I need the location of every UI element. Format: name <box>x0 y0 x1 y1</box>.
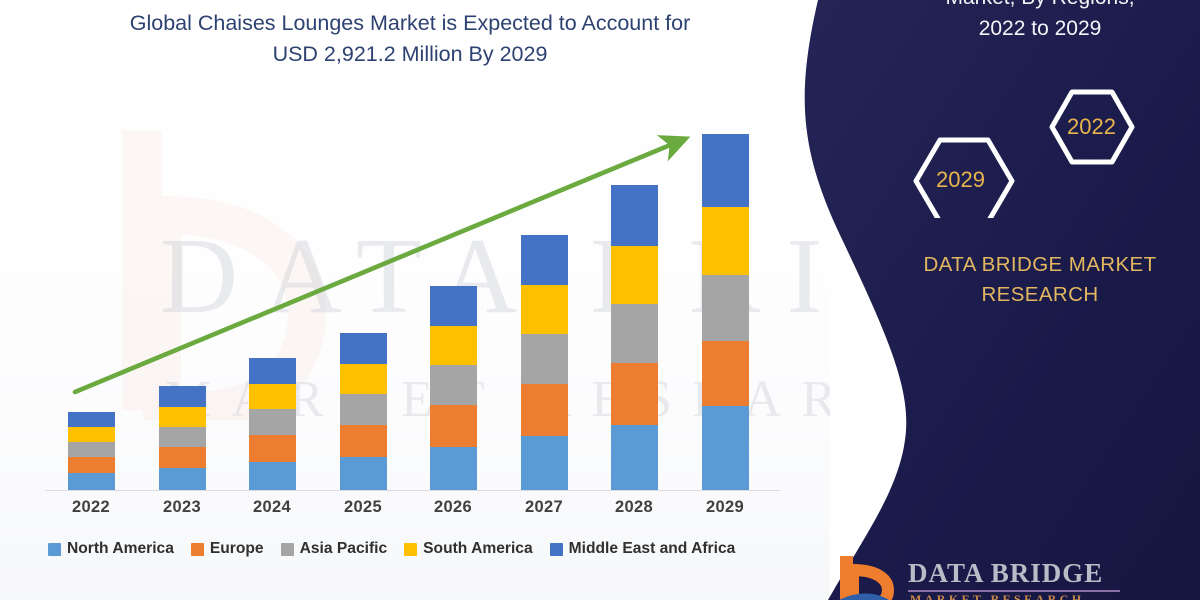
bar-segment-north-america <box>159 468 206 490</box>
panel-title-line-1: Market, By Regions, <box>945 0 1134 9</box>
legend-item-north-america[interactable]: North America <box>48 540 174 558</box>
bar-segment-asia-pacific <box>611 304 658 363</box>
legend-swatch-icon <box>191 543 204 556</box>
bar-segment-middle-east-and-africa <box>340 333 387 364</box>
bar-segment-middle-east-and-africa <box>430 286 477 326</box>
bar-segment-middle-east-and-africa <box>702 134 749 207</box>
bar-segment-north-america <box>68 473 115 490</box>
logo-tagline: MARKET RESEARCH <box>910 592 1084 600</box>
chart-legend: North AmericaEuropeAsia PacificSouth Ame… <box>48 540 788 558</box>
bar-segment-south-america <box>430 326 477 365</box>
bar-segment-europe <box>68 457 115 473</box>
axis-baseline <box>45 490 780 491</box>
x-axis-label-2022: 2022 <box>51 498 131 517</box>
bar-segment-middle-east-and-africa <box>611 185 658 246</box>
hexagon-2029-label: 2029 <box>936 167 985 193</box>
bar-segment-south-america <box>68 427 115 442</box>
stacked-bar-plot: 20222023202420252026202720282029 <box>0 0 830 600</box>
bar-2027 <box>521 235 568 490</box>
bar-2029 <box>702 134 749 490</box>
legend-swatch-icon <box>550 543 563 556</box>
legend-label: South America <box>423 540 532 558</box>
bar-2023 <box>159 386 206 490</box>
bar-segment-middle-east-and-africa <box>68 412 115 427</box>
bar-segment-north-america <box>249 462 296 490</box>
legend-label: Asia Pacific <box>300 540 388 558</box>
legend-swatch-icon <box>404 543 417 556</box>
logo-b-mark-icon <box>836 556 896 600</box>
bar-2026 <box>430 286 477 490</box>
bar-segment-europe <box>611 363 658 425</box>
bar-segment-europe <box>340 425 387 457</box>
bar-segment-asia-pacific <box>340 394 387 425</box>
bar-2028 <box>611 185 658 490</box>
x-axis-label-2027: 2027 <box>504 498 584 517</box>
legend-item-europe[interactable]: Europe <box>191 540 264 558</box>
bar-segment-middle-east-and-africa <box>159 386 206 407</box>
legend-label: Middle East and Africa <box>569 540 736 558</box>
hexagon-outlines <box>900 88 1180 218</box>
legend-item-middle-east-and-africa[interactable]: Middle East and Africa <box>550 540 736 558</box>
bar-segment-europe <box>702 341 749 406</box>
legend-label: Europe <box>210 540 264 558</box>
bar-segment-asia-pacific <box>249 409 296 435</box>
brand-name: DATA BRIDGE MARKET RESEARCH <box>880 250 1200 310</box>
x-axis-label-2023: 2023 <box>142 498 222 517</box>
company-logo: DATA BRIDGE MARKET RESEARCH <box>836 552 1136 600</box>
x-axis-label-2025: 2025 <box>323 498 403 517</box>
legend-swatch-icon <box>281 543 294 556</box>
bar-segment-europe <box>430 405 477 447</box>
bar-segment-europe <box>249 435 296 462</box>
legend-item-south-america[interactable]: South America <box>404 540 532 558</box>
bar-segment-north-america <box>702 406 749 490</box>
panel-content: Market, By Regions, 2022 to 2029 2022 20… <box>880 0 1200 600</box>
bar-segment-south-america <box>521 285 568 334</box>
x-axis-label-2024: 2024 <box>232 498 312 517</box>
bar-segment-asia-pacific <box>159 427 206 447</box>
bar-segment-north-america <box>430 447 477 490</box>
logo-wordmark: DATA BRIDGE <box>908 558 1103 589</box>
bar-segment-asia-pacific <box>68 442 115 457</box>
infographic-canvas: DATA BRIDGE MARKET RESEARCH Global Chais… <box>0 0 1200 600</box>
bar-segment-north-america <box>611 425 658 490</box>
legend-swatch-icon <box>48 543 61 556</box>
bar-segment-asia-pacific <box>702 275 749 341</box>
x-axis-label-2028: 2028 <box>594 498 674 517</box>
bar-segment-south-america <box>611 246 658 304</box>
bar-segment-south-america <box>159 407 206 427</box>
bar-segment-north-america <box>521 436 568 490</box>
x-axis-label-2026: 2026 <box>413 498 493 517</box>
panel-title: Market, By Regions, 2022 to 2029 <box>875 0 1200 44</box>
bar-segment-south-america <box>249 384 296 409</box>
bar-segment-south-america <box>702 207 749 275</box>
bar-segment-north-america <box>340 457 387 490</box>
x-axis-label-2029: 2029 <box>685 498 765 517</box>
brand-line-2: RESEARCH <box>981 283 1098 306</box>
legend-item-asia-pacific[interactable]: Asia Pacific <box>281 540 388 558</box>
bar-2022 <box>68 412 115 490</box>
bar-2024 <box>249 358 296 490</box>
legend-label: North America <box>67 540 174 558</box>
bar-segment-south-america <box>340 364 387 394</box>
brand-line-1: DATA BRIDGE MARKET <box>923 253 1156 276</box>
bar-2025 <box>340 333 387 490</box>
bar-segment-middle-east-and-africa <box>249 358 296 384</box>
bar-segment-asia-pacific <box>521 334 568 384</box>
bar-segment-europe <box>521 384 568 436</box>
hexagon-group: 2022 2029 <box>900 88 1180 218</box>
bar-segment-europe <box>159 447 206 468</box>
panel-title-line-2: 2022 to 2029 <box>979 17 1102 40</box>
bar-segment-asia-pacific <box>430 365 477 405</box>
hexagon-2022-label: 2022 <box>1067 114 1116 140</box>
bar-segment-middle-east-and-africa <box>521 235 568 285</box>
